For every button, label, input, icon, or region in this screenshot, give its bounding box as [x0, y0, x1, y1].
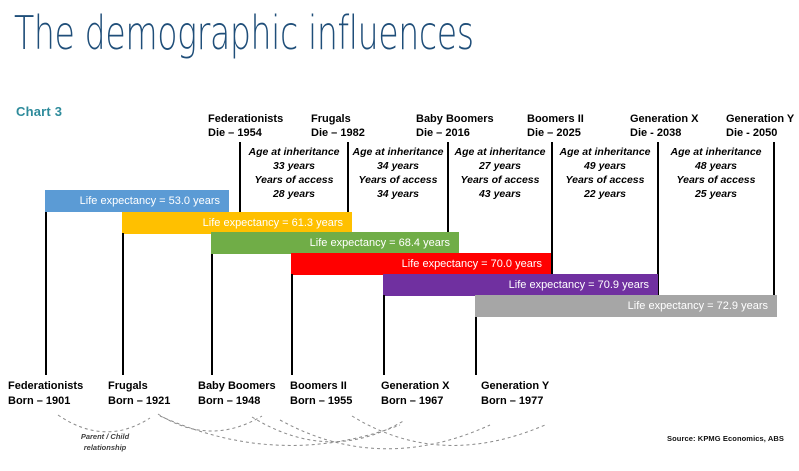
born-title-frugals: Frugals	[108, 379, 170, 394]
inheritance-block-frugals: Age at inheritance 34 years Years of acc…	[352, 145, 444, 201]
born-title-generation-x: Generation X	[381, 379, 449, 394]
head-title-baby-boomers: Baby Boomers	[416, 113, 494, 125]
years-access-value-frugals: 34 years	[352, 187, 444, 201]
head-title-generation-y: Generation Y	[726, 113, 794, 125]
head-label-generation-x: Generation X Die - 2038	[630, 112, 698, 140]
life-expectancy-label-boomers-ii: Life expectancy = 70.0 years	[402, 259, 542, 270]
life-expectancy-bar-generation-y: Life expectancy = 72.9 years	[475, 295, 777, 317]
inheritance-block-baby-boomers: Age at inheritance 27 years Years of acc…	[452, 145, 548, 201]
years-access-caption-frugals: Years of access	[352, 173, 444, 187]
arc-boomersii-geny	[352, 416, 545, 445]
arc-frugals-babyboomers	[158, 414, 262, 431]
life-expectancy-bar-generation-x: Life expectancy = 70.9 years	[383, 274, 658, 296]
born-title-federationists: Federationists	[8, 379, 83, 394]
head-title-federationists: Federationists	[208, 113, 283, 125]
born-year-generation-y: Born – 1977	[481, 394, 549, 409]
born-year-baby-boomers: Born – 1948	[198, 394, 276, 409]
vline-bottom-federationists	[45, 212, 47, 375]
years-access-caption-generation-x: Years of access	[662, 173, 770, 187]
born-title-generation-y: Generation Y	[481, 379, 549, 394]
head-die-generation-x: Die - 2038	[630, 126, 698, 140]
page-title: The demographic influences	[14, 6, 474, 60]
born-label-federationists: Federationists Born – 1901	[8, 379, 83, 409]
vline-bottom-baby-boomers	[211, 254, 213, 375]
years-access-caption-baby-boomers: Years of access	[452, 173, 548, 187]
born-title-boomers-ii: Boomers II	[290, 379, 352, 394]
born-label-boomers-ii: Boomers II Born – 1955	[290, 379, 352, 409]
chart-number-label: Chart 3	[16, 104, 62, 119]
born-label-baby-boomers: Baby Boomers Born – 1948	[198, 379, 276, 409]
inheritance-age-value-federationists: 33 years	[244, 159, 344, 173]
years-access-value-boomers-ii: 22 years	[556, 187, 654, 201]
life-expectancy-label-generation-x: Life expectancy = 70.9 years	[509, 280, 649, 291]
life-expectancy-label-baby-boomers: Life expectancy = 68.4 years	[310, 238, 450, 249]
born-year-federationists: Born – 1901	[8, 394, 83, 409]
arc-babyboomers-genx	[252, 417, 405, 442]
inheritance-age-caption-baby-boomers: Age at inheritance	[452, 145, 548, 159]
born-year-boomers-ii: Born – 1955	[290, 394, 352, 409]
arc-fed-frugals	[58, 415, 150, 432]
years-access-value-baby-boomers: 43 years	[452, 187, 548, 201]
born-year-generation-x: Born – 1967	[381, 394, 449, 409]
head-die-generation-y: Die - 2050	[726, 126, 794, 140]
head-label-baby-boomers: Baby Boomers Die – 2016	[416, 112, 494, 140]
vline-bottom-generation-x	[383, 295, 385, 375]
head-label-generation-y: Generation Y Die - 2050	[726, 112, 794, 140]
inheritance-block-federationists: Age at inheritance 33 years Years of acc…	[244, 145, 344, 201]
source-note: Source: KPMG Economics, ABS	[667, 434, 784, 443]
vline-bottom-frugals	[122, 233, 124, 375]
head-die-baby-boomers: Die – 2016	[416, 126, 494, 140]
inheritance-age-caption-federationists: Age at inheritance	[244, 145, 344, 159]
inheritance-block-boomers-ii: Age at inheritance 49 years Years of acc…	[556, 145, 654, 201]
head-label-boomers-ii: Boomers II Die – 2025	[527, 112, 584, 140]
inheritance-block-generation-x: Age at inheritance 48 years Years of acc…	[662, 145, 770, 201]
arc-babyboomers-geny	[280, 420, 490, 449]
life-expectancy-bar-frugals: Life expectancy = 61.3 years	[122, 212, 352, 234]
vline-top-1	[239, 142, 241, 213]
years-access-caption-federationists: Years of access	[244, 173, 344, 187]
head-die-boomers-ii: Die – 2025	[527, 126, 584, 140]
vline-top-5	[657, 142, 659, 296]
vline-bottom-generation-y	[475, 317, 477, 375]
vline-top-6	[773, 142, 775, 296]
life-expectancy-label-generation-y: Life expectancy = 72.9 years	[628, 301, 768, 312]
inheritance-age-caption-boomers-ii: Age at inheritance	[556, 145, 654, 159]
born-label-generation-x: Generation X Born – 1967	[381, 379, 449, 409]
inheritance-age-caption-generation-x: Age at inheritance	[662, 145, 770, 159]
born-year-frugals: Born – 1921	[108, 394, 170, 409]
head-die-federationists: Die – 1954	[208, 126, 283, 140]
inheritance-age-caption-frugals: Age at inheritance	[352, 145, 444, 159]
arc-frugals-genx	[160, 416, 400, 445]
head-die-frugals: Die – 1982	[311, 126, 365, 140]
inheritance-age-value-baby-boomers: 27 years	[452, 159, 548, 173]
inheritance-age-value-boomers-ii: 49 years	[556, 159, 654, 173]
head-title-generation-x: Generation X	[630, 113, 698, 125]
life-expectancy-label-frugals: Life expectancy = 61.3 years	[203, 218, 343, 229]
parent-child-relationship-note: Parent / Child relationship	[55, 431, 155, 453]
born-label-generation-y: Generation Y Born – 1977	[481, 379, 549, 409]
head-title-frugals: Frugals	[311, 113, 351, 125]
years-access-caption-boomers-ii: Years of access	[556, 173, 654, 187]
relationship-note-line2: relationship	[55, 442, 155, 453]
head-title-boomers-ii: Boomers II	[527, 113, 584, 125]
life-expectancy-bar-federationists: Life expectancy = 53.0 years	[45, 190, 229, 212]
head-label-frugals: Frugals Die – 1982	[311, 112, 365, 140]
born-label-frugals: Frugals Born – 1921	[108, 379, 170, 409]
years-access-value-generation-x: 25 years	[662, 187, 770, 201]
life-expectancy-bar-baby-boomers: Life expectancy = 68.4 years	[211, 232, 459, 254]
relationship-note-line1: Parent / Child	[55, 431, 155, 442]
slide-canvas: The demographic influences Chart 3 Feder…	[0, 0, 799, 471]
born-title-baby-boomers: Baby Boomers	[198, 379, 276, 394]
head-label-federationists: Federationists Die – 1954	[208, 112, 283, 140]
vline-bottom-boomers-ii	[291, 274, 293, 375]
years-access-value-federationists: 28 years	[244, 187, 344, 201]
vline-top-4	[551, 142, 553, 275]
inheritance-age-value-frugals: 34 years	[352, 159, 444, 173]
inheritance-age-value-generation-x: 48 years	[662, 159, 770, 173]
life-expectancy-label-federationists: Life expectancy = 53.0 years	[80, 196, 220, 207]
life-expectancy-bar-boomers-ii: Life expectancy = 70.0 years	[291, 253, 551, 275]
